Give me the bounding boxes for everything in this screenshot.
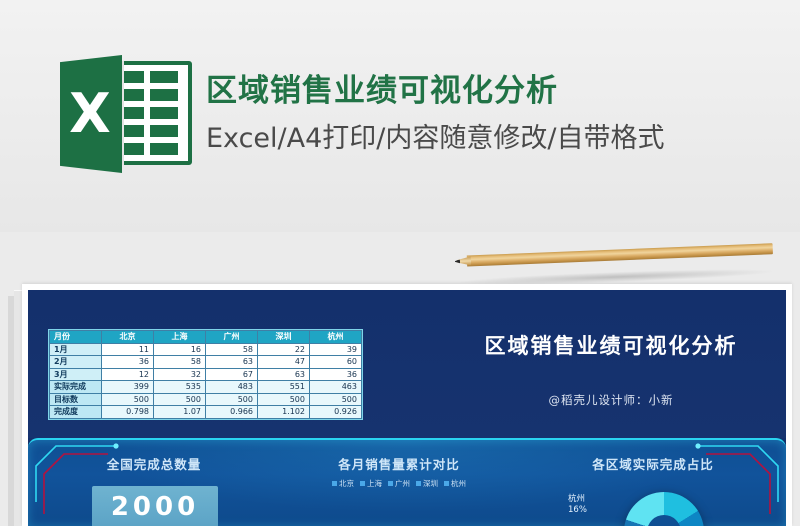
legend-swatch-guangzhou [388, 481, 393, 486]
cell-value: 22 [258, 343, 310, 356]
cell-value: 16 [154, 343, 206, 356]
table-row: 3月 12 32 67 63 36 [50, 368, 362, 381]
cell-value: 58 [154, 356, 206, 369]
excel-logo-panel: X [60, 55, 122, 173]
total-value-plate: 2000 [92, 486, 218, 526]
pie-chart-ring [624, 492, 704, 526]
panel-heading-monthly: 各月销售量累计对比 [274, 454, 524, 473]
dashboard-title: 区域销售业绩可视化分析 [446, 330, 776, 360]
cell-value: 1.102 [258, 406, 310, 419]
legend-label-shanghai: 上海 [367, 479, 382, 488]
table-row: 目标数 500 500 500 500 500 [50, 393, 362, 406]
sales-data-table: 月份 北京 上海 广州 深圳 杭州 1月 11 16 58 22 39 2月 3… [49, 330, 362, 419]
table-row: 1月 11 16 58 22 39 [50, 343, 362, 356]
cell-value: 500 [102, 393, 154, 406]
cell-value: 483 [206, 381, 258, 394]
table-row: 实际完成 399 535 483 551 463 [50, 381, 362, 394]
banner-content: X 区域销售业绩可视化分析 Excel/A4打印/内容随意修改/自带格式 [60, 55, 664, 173]
cell-value: 67 [206, 368, 258, 381]
cell-value: 500 [310, 393, 362, 406]
cell-value: 551 [258, 381, 310, 394]
table-row: 完成度 0.798 1.07 0.966 1.102 0.926 [50, 406, 362, 419]
pencil-body [467, 243, 773, 266]
cell-value: 399 [102, 381, 154, 394]
pie-callout-region: 杭州 [568, 494, 587, 505]
cell-value: 63 [206, 356, 258, 369]
cell-value: 535 [154, 381, 206, 394]
cell-value: 1.07 [154, 406, 206, 419]
cell-value: 0.926 [310, 406, 362, 419]
cell-value: 36 [102, 356, 154, 369]
excel-logo-letter: X [69, 87, 111, 141]
pencil-graphite-tip [455, 259, 460, 263]
cell-value: 500 [154, 393, 206, 406]
dashboard-author-credit: @稻壳儿设计师：小新 [446, 392, 776, 408]
table-header-row: 月份 北京 上海 广州 深圳 杭州 [50, 331, 362, 344]
legend-label-beijing: 北京 [339, 479, 354, 488]
legend-label-shenzhen: 深圳 [423, 479, 438, 488]
banner-title: 区域销售业绩可视化分析 [206, 71, 664, 111]
legend-swatch-beijing [332, 481, 337, 486]
cell-value: 63 [258, 368, 310, 381]
row-label: 目标数 [50, 393, 102, 406]
panel-heading-share: 各区域实际完成占比 [538, 454, 768, 473]
pie-callout: 杭州 16% [568, 494, 587, 517]
legend-label-hangzhou: 杭州 [451, 479, 466, 488]
cell-value: 60 [310, 356, 362, 369]
pencil-decoration [455, 243, 773, 267]
panel-share-column: 各区域实际完成占比 [538, 454, 768, 473]
col-header-shanghai: 上海 [154, 331, 206, 344]
dashboard-stats-panel: 全国完成总数量 2000 各月销售量累计对比 北京上海广州深圳杭州 各区域实际完… [28, 438, 786, 526]
legend-label-guangzhou: 广州 [395, 479, 410, 488]
cell-value: 500 [258, 393, 310, 406]
col-header-guangzhou: 广州 [206, 331, 258, 344]
row-label: 实际完成 [50, 381, 102, 394]
col-header-month: 月份 [50, 331, 102, 344]
cell-value: 47 [258, 356, 310, 369]
pie-chart [624, 492, 704, 526]
chart-legend: 北京上海广州深圳杭州 [274, 478, 524, 489]
cell-value: 39 [310, 343, 362, 356]
cell-value: 500 [206, 393, 258, 406]
excel-file-icon: X [60, 55, 192, 173]
banner-subtitle: Excel/A4打印/内容随意修改/自带格式 [206, 121, 664, 157]
row-label: 3月 [50, 368, 102, 381]
cell-value: 12 [102, 368, 154, 381]
col-header-shenzhen: 深圳 [258, 331, 310, 344]
promo-banner: X 区域销售业绩可视化分析 Excel/A4打印/内容随意修改/自带格式 [0, 0, 800, 232]
legend-swatch-hangzhou [444, 481, 449, 486]
panel-monthly-column: 各月销售量累计对比 [274, 454, 524, 473]
cell-value: 32 [154, 368, 206, 381]
cell-value: 36 [310, 368, 362, 381]
banner-text-block: 区域销售业绩可视化分析 Excel/A4打印/内容随意修改/自带格式 [206, 71, 664, 158]
cell-value: 463 [310, 381, 362, 394]
panel-total-column: 全国完成总数量 [54, 454, 254, 473]
row-label: 2月 [50, 356, 102, 369]
panel-heading-total: 全国完成总数量 [54, 454, 254, 473]
cell-value: 0.798 [102, 406, 154, 419]
row-label: 完成度 [50, 406, 102, 419]
dashboard-preview: 月份 北京 上海 广州 深圳 杭州 1月 11 16 58 22 39 2月 3… [28, 290, 786, 526]
cell-value: 58 [206, 343, 258, 356]
legend-swatch-shenzhen [416, 481, 421, 486]
cell-value: 11 [102, 343, 154, 356]
legend-swatch-shanghai [360, 481, 365, 486]
cell-value: 0.966 [206, 406, 258, 419]
table-row: 2月 36 58 63 47 60 [50, 356, 362, 369]
total-value: 2000 [92, 486, 218, 526]
pie-callout-percent: 16% [568, 505, 587, 516]
row-label: 1月 [50, 343, 102, 356]
col-header-beijing: 北京 [102, 331, 154, 344]
col-header-hangzhou: 杭州 [310, 331, 362, 344]
